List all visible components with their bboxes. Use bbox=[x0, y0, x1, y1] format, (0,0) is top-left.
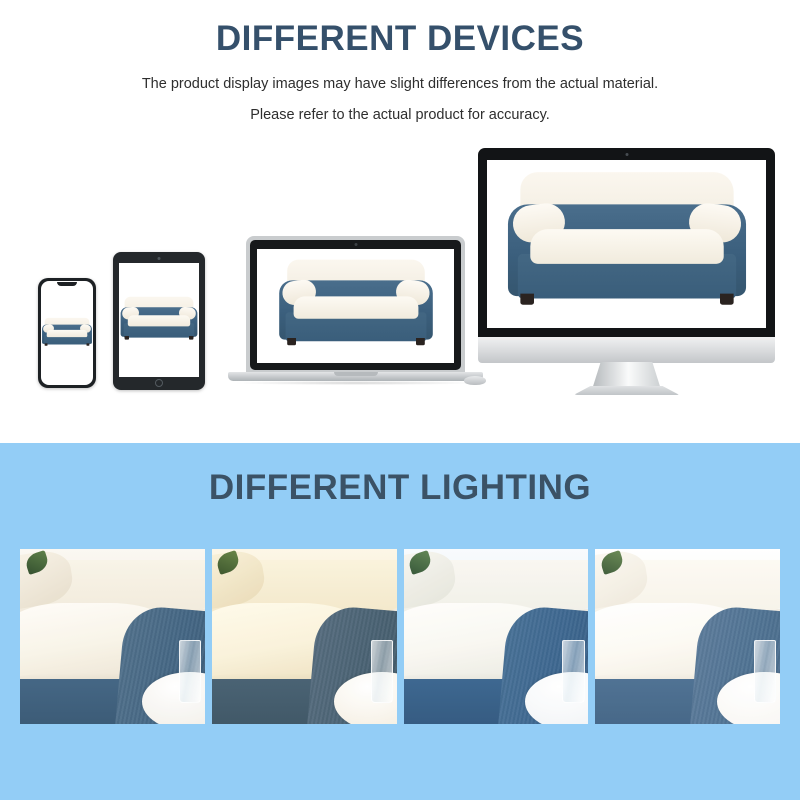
tablet-screen bbox=[119, 263, 199, 377]
sofa-product-image bbox=[276, 260, 436, 353]
monitor-chin bbox=[478, 337, 775, 363]
different-devices-section: DIFFERENT DEVICES The product display im… bbox=[0, 0, 800, 443]
devices-section-title: DIFFERENT DEVICES bbox=[0, 20, 800, 59]
mouse-icon bbox=[464, 376, 486, 385]
monitor-stand-neck bbox=[593, 362, 661, 388]
sofa-seat-cushion bbox=[293, 296, 418, 318]
lighting-variant-grid: NATURAL LIGHT WARM LIGHT bbox=[20, 549, 780, 724]
lighting-card[interactable]: BRIGHT LIGHT bbox=[595, 549, 780, 724]
sofa-leg-right bbox=[189, 336, 193, 340]
monitor-camera-icon bbox=[625, 153, 628, 156]
phone-notch-icon bbox=[57, 282, 77, 286]
laptop-base-notch bbox=[334, 372, 378, 376]
laptop-mockup bbox=[228, 236, 483, 394]
lighting-photo bbox=[595, 549, 780, 724]
tablet-home-button-icon bbox=[155, 379, 163, 387]
phone-screen bbox=[41, 281, 93, 385]
sofa-seat-cushion bbox=[530, 229, 723, 264]
sofa-product-image bbox=[119, 297, 199, 343]
photo-light-tint bbox=[404, 549, 589, 724]
sofa-leg-left bbox=[45, 343, 48, 345]
devices-subtitle-line-1: The product display images may have slig… bbox=[0, 73, 800, 95]
monitor-screen bbox=[487, 160, 766, 328]
laptop-screen bbox=[257, 249, 454, 363]
lighting-photo bbox=[20, 549, 205, 724]
sofa-product-image bbox=[41, 318, 93, 348]
devices-subtitle-line-2: Please refer to the actual product for a… bbox=[0, 104, 800, 126]
smartphone-mockup bbox=[38, 278, 96, 388]
lighting-card[interactable]: WARM LIGHT bbox=[212, 549, 397, 724]
photo-light-tint bbox=[20, 549, 205, 724]
laptop-shadow bbox=[236, 381, 475, 385]
sofa-leg-left bbox=[520, 294, 534, 305]
lighting-card[interactable]: NATURAL LIGHT bbox=[20, 549, 205, 724]
monitor-stand-base bbox=[574, 386, 680, 395]
photo-light-tint bbox=[212, 549, 397, 724]
laptop-lid bbox=[246, 236, 465, 374]
laptop-bezel bbox=[250, 240, 461, 370]
lighting-card[interactable]: COLD LIGHT bbox=[404, 549, 589, 724]
tablet-mockup bbox=[113, 252, 205, 390]
lighting-photo bbox=[212, 549, 397, 724]
sofa-leg-left bbox=[287, 338, 296, 345]
desktop-monitor-mockup bbox=[478, 148, 775, 396]
sofa-product-image bbox=[503, 172, 751, 316]
sofa-seat-cushion bbox=[47, 330, 88, 337]
tablet-camera-icon bbox=[158, 257, 161, 260]
sofa-seat-cushion bbox=[128, 315, 190, 326]
sofa-leg-right bbox=[87, 343, 90, 345]
sofa-leg-left bbox=[125, 336, 129, 340]
sofa-leg-right bbox=[416, 338, 425, 345]
sofa-leg-right bbox=[720, 294, 734, 305]
monitor-panel bbox=[478, 148, 775, 338]
lighting-section-title: DIFFERENT LIGHTING bbox=[0, 469, 800, 508]
lighting-photo bbox=[404, 549, 589, 724]
device-mockup-stage bbox=[0, 140, 800, 410]
photo-light-tint bbox=[595, 549, 780, 724]
laptop-camera-icon bbox=[354, 243, 357, 246]
different-lighting-section: DIFFERENT LIGHTING NATURAL LIGHT bbox=[0, 443, 800, 800]
